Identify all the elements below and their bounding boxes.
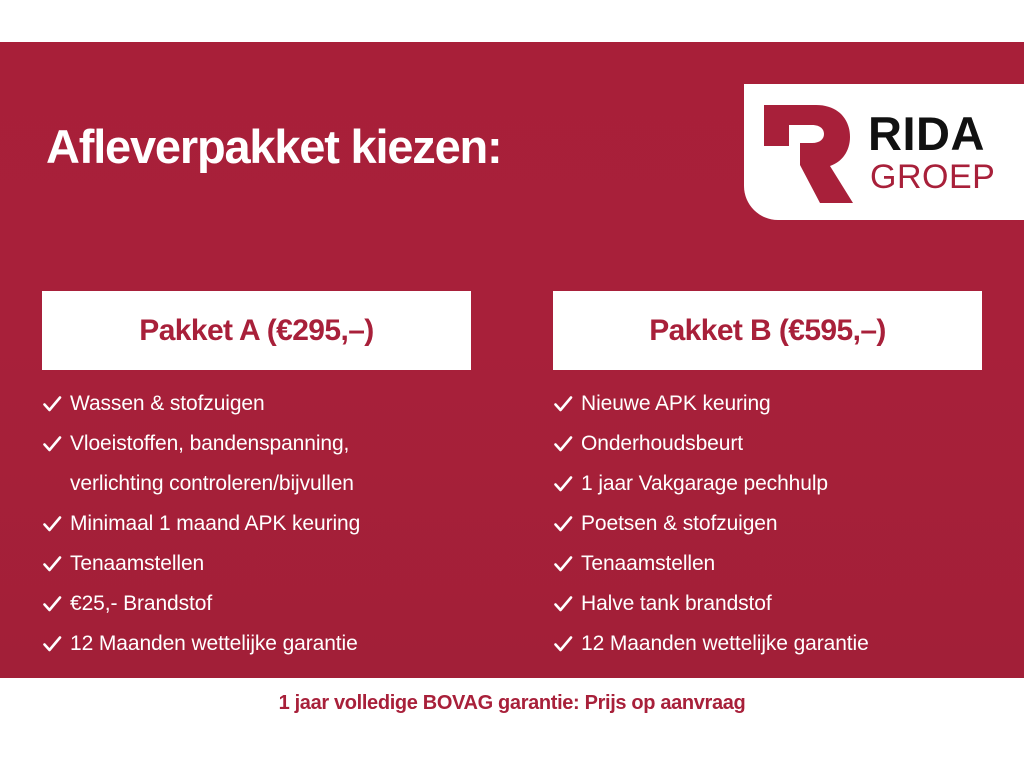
slide-canvas: Afleverpakket kiezen: RIDA GROEP Pakket … [0, 0, 1024, 768]
logo-wordmark: RIDA GROEP [868, 110, 995, 194]
list-item-label: Onderhoudsbeurt [581, 424, 743, 464]
list-item-line: €25,- Brandstof [70, 584, 212, 624]
check-icon [553, 544, 581, 584]
logo-name: RIDA [868, 110, 995, 157]
list-item: Poetsen & stofzuigen [553, 504, 1003, 544]
rida-r-monogram-icon [758, 99, 854, 203]
list-item-label: 12 Maanden wettelijke garantie [70, 624, 358, 664]
list-item-label: 12 Maanden wettelijke garantie [581, 624, 869, 664]
check-icon [553, 464, 581, 504]
logo: RIDA GROEP [744, 84, 1024, 220]
check-icon [553, 384, 581, 424]
check-icon [42, 624, 70, 664]
list-item-label: Halve tank brandstof [581, 584, 772, 624]
list-item: €25,- Brandstof [42, 584, 492, 624]
package-a-feature-list: Wassen & stofzuigen Vloeistoffen, banden… [42, 384, 492, 664]
list-item-line: Minimaal 1 maand APK keuring [70, 504, 360, 544]
package-b-feature-list: Nieuwe APK keuring Onderhoudsbeurt [553, 384, 1003, 664]
list-item: Minimaal 1 maand APK keuring [42, 504, 492, 544]
list-item: Wassen & stofzuigen [42, 384, 492, 424]
check-icon [42, 384, 70, 424]
page-title: Afleverpakket kiezen: [46, 118, 501, 176]
package-a-title: Pakket A (€295,–) [139, 314, 373, 348]
list-item: Nieuwe APK keuring [553, 384, 1003, 424]
list-item: Onderhoudsbeurt [553, 424, 1003, 464]
red-background-panel: Afleverpakket kiezen: RIDA GROEP Pakket … [0, 42, 1024, 678]
list-item-line: Wassen & stofzuigen [70, 384, 265, 424]
check-icon [42, 424, 70, 464]
list-item: Tenaamstellen [553, 544, 1003, 584]
footer-note: 1 jaar volledige BOVAG garantie: Prijs o… [0, 692, 1024, 715]
check-icon [553, 424, 581, 464]
list-item-label: Nieuwe APK keuring [581, 384, 771, 424]
footer-band: 1 jaar volledige BOVAG garantie: Prijs o… [0, 678, 1024, 768]
logo-subtitle: GROEP [870, 160, 995, 194]
check-icon [42, 584, 70, 624]
list-item-label: Tenaamstellen [70, 544, 204, 584]
check-icon [553, 584, 581, 624]
package-b-title: Pakket B (€595,–) [649, 314, 886, 348]
check-icon [42, 504, 70, 544]
list-item-line: Vloeistoffen, bandenspanning, [70, 424, 354, 464]
check-icon [553, 624, 581, 664]
list-item-line: Halve tank brandstof [581, 584, 772, 624]
list-item: 12 Maanden wettelijke garantie [553, 624, 1003, 664]
list-item-line: Onderhoudsbeurt [581, 424, 743, 464]
list-item-line: Tenaamstellen [70, 544, 204, 584]
list-item: 1 jaar Vakgarage pechhulp [553, 464, 1003, 504]
check-icon [553, 504, 581, 544]
list-item-line: Nieuwe APK keuring [581, 384, 771, 424]
list-item-label: Wassen & stofzuigen [70, 384, 265, 424]
list-item-line: 12 Maanden wettelijke garantie [70, 624, 358, 664]
list-item: Tenaamstellen [42, 544, 492, 584]
list-item: 12 Maanden wettelijke garantie [42, 624, 492, 664]
list-item: Vloeistoffen, bandenspanning, verlichtin… [42, 424, 492, 504]
check-icon [42, 544, 70, 584]
list-item-line: Poetsen & stofzuigen [581, 504, 777, 544]
list-item-label: Minimaal 1 maand APK keuring [70, 504, 360, 544]
list-item-line: 1 jaar Vakgarage pechhulp [581, 464, 828, 504]
list-item-line: verlichting controleren/bijvullen [70, 464, 354, 504]
list-item-label: €25,- Brandstof [70, 584, 212, 624]
list-item-line: Tenaamstellen [581, 544, 715, 584]
list-item: Halve tank brandstof [553, 584, 1003, 624]
list-item-label: Tenaamstellen [581, 544, 715, 584]
logo-plate: RIDA GROEP [744, 84, 1024, 220]
package-b-card[interactable]: Pakket B (€595,–) [553, 291, 982, 370]
list-item-label: Vloeistoffen, bandenspanning, verlichtin… [70, 424, 354, 504]
package-a-card[interactable]: Pakket A (€295,–) [42, 291, 471, 370]
list-item-label: 1 jaar Vakgarage pechhulp [581, 464, 828, 504]
list-item-label: Poetsen & stofzuigen [581, 504, 777, 544]
list-item-line: 12 Maanden wettelijke garantie [581, 624, 869, 664]
